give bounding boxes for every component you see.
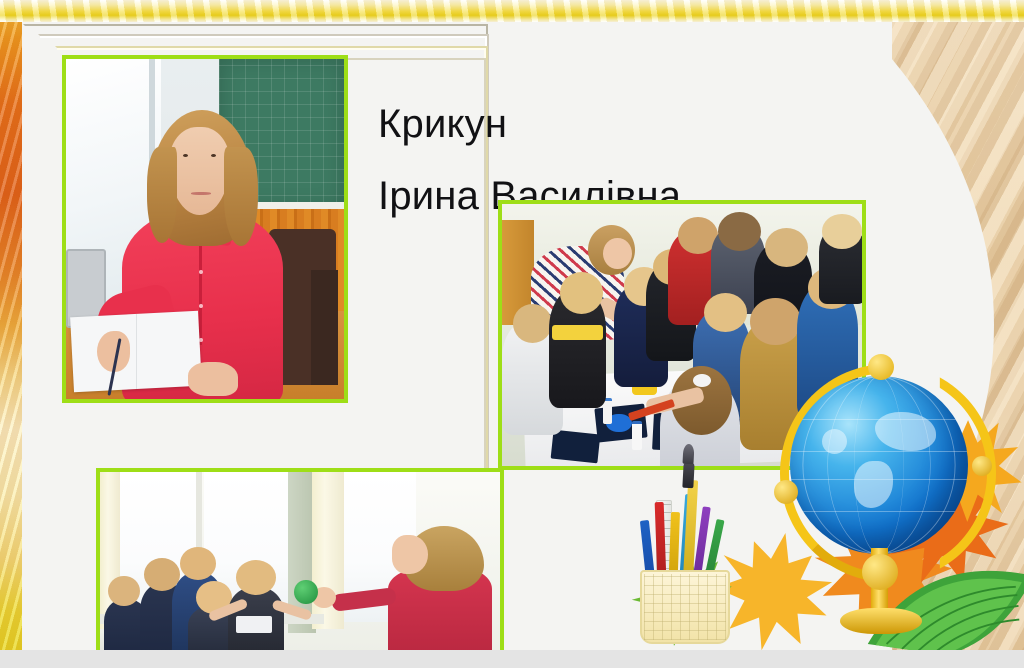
portrait-notebook-fold xyxy=(136,314,137,389)
child-shirt-stripe xyxy=(552,325,602,341)
child-head xyxy=(822,214,862,248)
portrait-hair-right xyxy=(224,147,257,246)
portrait-eye xyxy=(211,154,216,157)
yellow-top-band-texture xyxy=(0,0,1024,22)
portrait-chair-side xyxy=(311,270,339,386)
teacher-portrait-photo[interactable] xyxy=(62,55,348,403)
portrait-shirt-placket xyxy=(199,229,202,345)
pupil-head xyxy=(180,547,216,580)
portrait-mouth xyxy=(191,192,210,195)
slide-viewer-bottom-bar xyxy=(0,650,1024,668)
teacher-face xyxy=(603,238,632,269)
title-line-surname: Крикун xyxy=(378,88,808,160)
child-head xyxy=(560,272,603,314)
craft-sheet xyxy=(551,430,601,464)
glue-bottle xyxy=(632,421,643,450)
classroom-lesson-photo[interactable] xyxy=(96,468,504,650)
portrait-hair-left xyxy=(147,147,178,242)
autumn-leaf-edge-texture xyxy=(0,0,22,650)
classroom-group-activity-photo[interactable] xyxy=(498,200,866,470)
pupil-shirt-print xyxy=(236,616,272,633)
slide-canvas: Крикун Ірина Василівна xyxy=(0,0,1024,650)
child-head xyxy=(750,298,800,345)
child-head xyxy=(765,228,808,267)
portrait-resting-hand xyxy=(188,362,238,396)
presentation-slide: Крикун Ірина Василівна xyxy=(0,0,1024,668)
child-head xyxy=(513,304,553,343)
pupil-head xyxy=(108,576,140,607)
child-head xyxy=(704,293,747,332)
child-head xyxy=(718,212,761,251)
pupil-head xyxy=(236,560,276,595)
lesson-teacher-face xyxy=(392,535,428,573)
